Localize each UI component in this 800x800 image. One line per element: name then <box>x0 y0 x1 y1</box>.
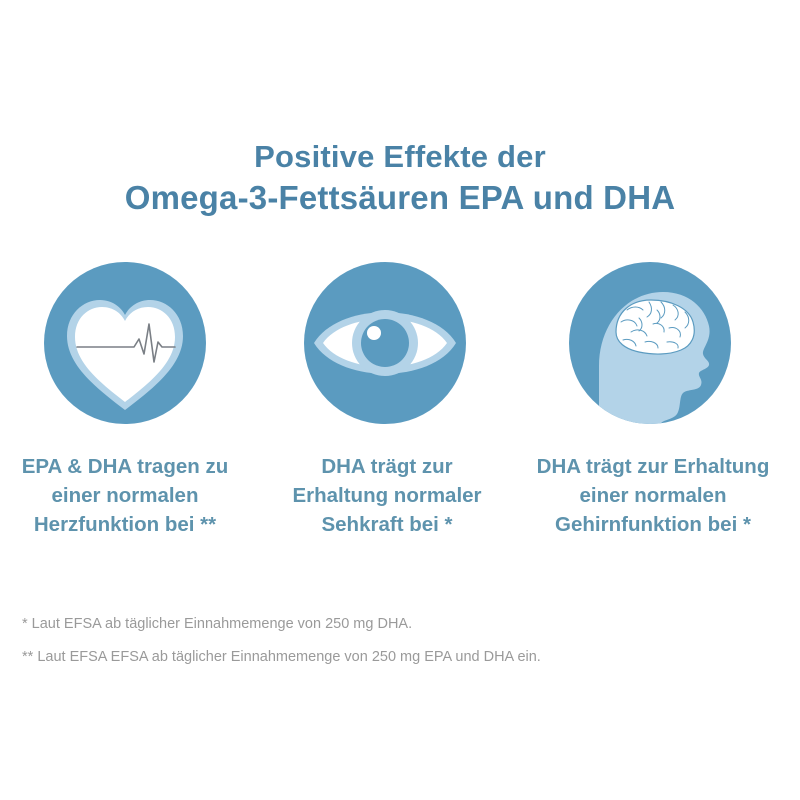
page-title: Positive Effekte der Omega-3-Fettsäuren … <box>0 138 800 218</box>
head-brain-icon <box>569 262 731 424</box>
benefit-item-heart <box>44 262 206 424</box>
footnote-single-asterisk: * Laut EFSA ab täglicher Einnahmemenge v… <box>22 617 762 632</box>
benefit-item-brain <box>569 262 731 424</box>
heart-icon-circle <box>44 262 206 424</box>
eye-icon <box>304 262 466 424</box>
benefit-icon-row <box>0 262 800 424</box>
footnote-double-asterisk: ** Laut EFSA EFSA ab täglicher Einnahmem… <box>22 650 762 665</box>
footnotes: * Laut EFSA ab täglicher Einnahmemenge v… <box>22 617 762 682</box>
head-brain-icon-circle <box>569 262 731 424</box>
title-line-2: Omega-3-Fettsäuren EPA und DHA <box>0 178 800 218</box>
benefit-caption-eye: DHA trägt zur Erhaltung normaler Sehkraf… <box>272 452 502 539</box>
benefit-caption-brain: DHA trägt zur Erhaltung einer normalen G… <box>518 452 788 539</box>
title-line-1: Positive Effekte der <box>0 138 800 176</box>
eye-icon-circle <box>304 262 466 424</box>
benefit-item-eye <box>304 262 466 424</box>
infographic-root: Positive Effekte der Omega-3-Fettsäuren … <box>0 0 800 800</box>
benefit-caption-row: EPA & DHA tragen zu einer normalen Herzf… <box>0 452 800 562</box>
benefit-caption-heart: EPA & DHA tragen zu einer normalen Herzf… <box>5 452 245 539</box>
heart-ecg-icon <box>44 262 206 424</box>
